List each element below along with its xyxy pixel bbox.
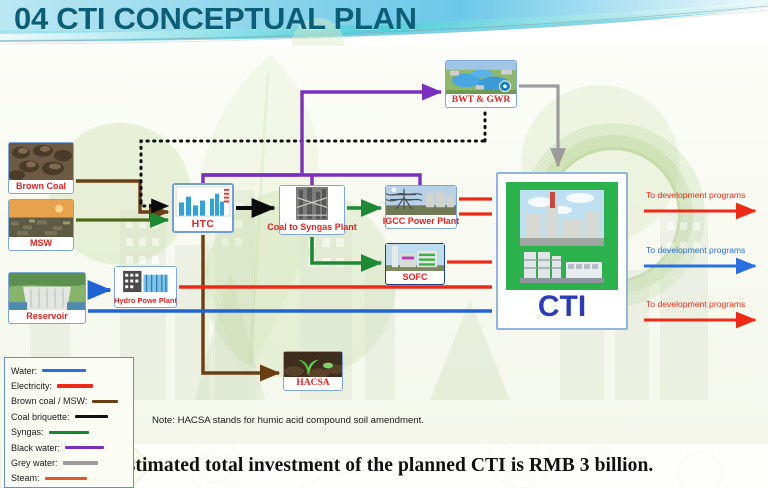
legend-item: Electricity: <box>11 378 133 393</box>
page-title: 04 CTI CONCEPTUAL PLAN <box>14 1 417 37</box>
legend-label: Coal briquette: <box>11 412 70 422</box>
node-brown-coal-label: Brown Coal <box>15 180 67 193</box>
node-cti-label: CTI <box>538 290 586 324</box>
node-coal-to-syngas-plant-label: Coal to Syngas Plant <box>266 221 358 234</box>
node-bwt-gwr-label: BWT & GWR <box>451 94 511 107</box>
legend-swatch-grey-water <box>63 461 98 464</box>
exit-label-1: To development programs <box>646 190 745 200</box>
legend-item: Coal briquette: <box>11 409 133 424</box>
slide-root: 04 CTI CONCEPTUAL PLAN <box>0 0 768 488</box>
node-brown-coal[interactable]: Brown Coal <box>8 142 74 194</box>
legend-swatch-water <box>42 369 86 372</box>
water-treatment-photo-icon <box>446 61 516 94</box>
plant-photo-icon <box>280 186 344 221</box>
node-hacsa-label: HACSA <box>295 377 330 390</box>
node-coal-to-syngas-plant[interactable]: Coal to Syngas Plant <box>279 185 345 235</box>
legend-swatch-coal-briquette <box>75 415 108 418</box>
node-htc[interactable]: HTC <box>172 183 234 233</box>
node-hacsa[interactable]: HACSA <box>283 351 343 391</box>
node-msw[interactable]: MSW <box>8 199 74 251</box>
node-igcc-power-plant-label: IGCC Power Plant <box>382 215 461 228</box>
legend-swatch-syngas <box>49 431 89 434</box>
legend-label: Grey water: <box>11 458 58 468</box>
industrial-plant-icon <box>506 182 618 290</box>
fuelcell-photo-icon <box>386 244 444 271</box>
legend-item: Black water: <box>11 440 133 455</box>
diagram-note: Note: HACSA stands for humic acid compou… <box>152 415 424 426</box>
legend-label: Syngas: <box>11 427 44 437</box>
header-banner: 04 CTI CONCEPTUAL PLAN <box>0 0 768 46</box>
legend-swatch-steam <box>45 477 87 480</box>
node-reservoir[interactable]: Reservoir <box>8 272 86 324</box>
exit-label-3: To development programs <box>646 299 745 309</box>
legend-label: Electricity: <box>11 381 52 391</box>
node-hydro-power-plant-label: Hydro Powe Plant <box>113 294 178 307</box>
legend-item: Brown coal / MSW: <box>11 394 133 409</box>
node-htc-label: HTC <box>191 218 216 231</box>
legend-label: Water: <box>11 366 37 376</box>
node-hydro-power-plant[interactable]: Hydro Powe Plant <box>114 266 177 308</box>
landfill-photo-icon <box>9 200 73 237</box>
node-igcc-power-plant[interactable]: IGCC Power Plant <box>385 185 457 229</box>
seedling-photo-icon <box>284 352 342 377</box>
hydro-building-icon <box>115 267 176 294</box>
node-sofc[interactable]: SOFC <box>385 243 445 285</box>
node-msw-label: MSW <box>29 237 53 250</box>
chart-icon <box>174 185 232 218</box>
coal-photo-icon <box>9 143 73 180</box>
legend-box: Water: Electricity: Brown coal / MSW: Co… <box>4 357 134 488</box>
legend-label: Brown coal / MSW: <box>11 396 87 406</box>
legend-item: Syngas: <box>11 425 133 440</box>
node-sofc-label: SOFC <box>401 271 428 284</box>
node-cti[interactable]: CTI <box>496 172 628 330</box>
legend-item: Steam: <box>11 471 133 486</box>
pylon-photo-icon <box>386 186 456 215</box>
legend-swatch-black-water <box>65 446 104 449</box>
node-reservoir-label: Reservoir <box>25 310 69 323</box>
legend-label: Black water: <box>11 443 60 453</box>
legend-label: Steam: <box>11 473 40 483</box>
node-bwt-gwr[interactable]: BWT & GWR <box>445 60 517 108</box>
legend-swatch-brown-coal-msw <box>92 400 118 403</box>
legend-item: Grey water: <box>11 455 133 470</box>
legend-swatch-electricity <box>57 384 93 387</box>
legend-item: Water: <box>11 363 133 378</box>
exit-label-2: To development programs <box>646 245 745 255</box>
dam-photo-icon <box>9 273 85 310</box>
